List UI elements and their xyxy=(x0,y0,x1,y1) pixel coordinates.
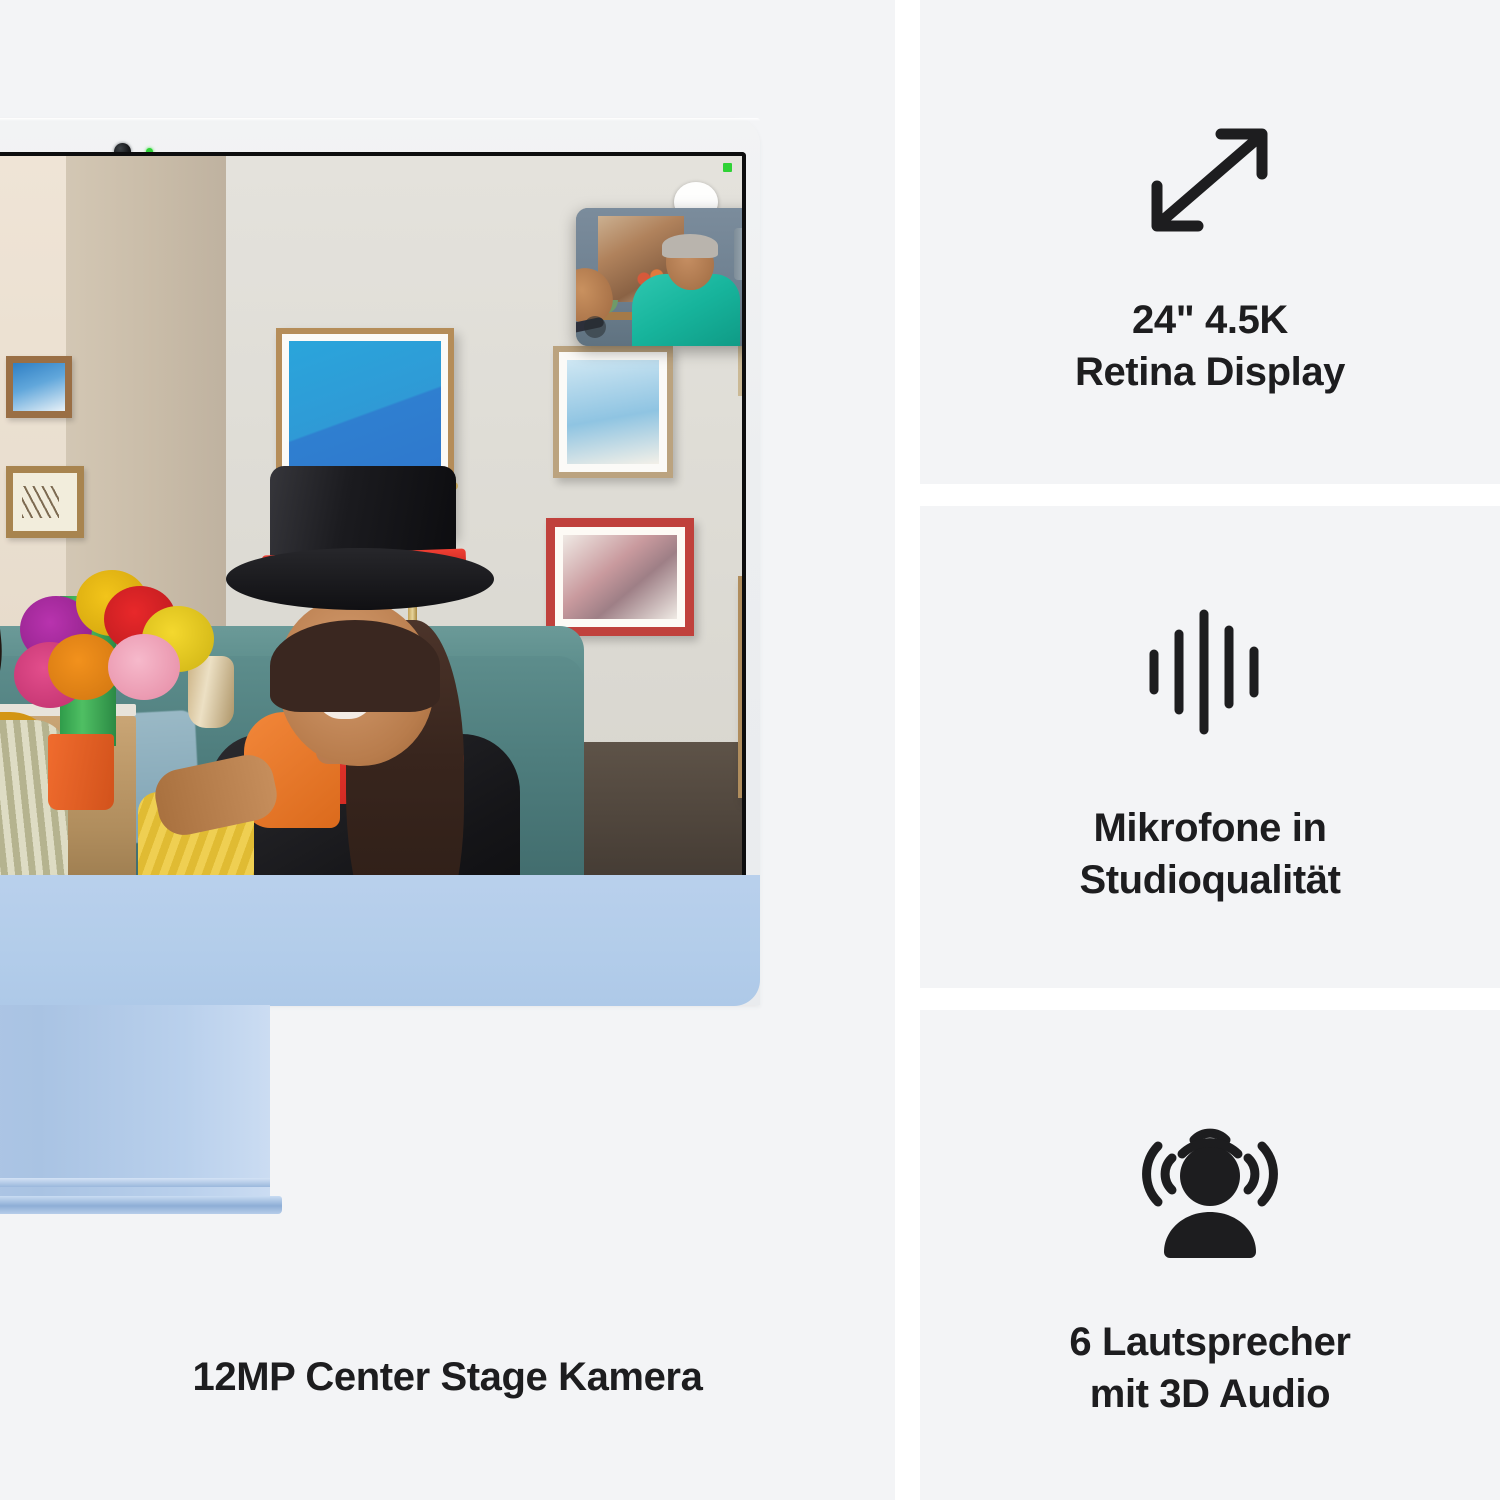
wall-frame-photo-white xyxy=(553,346,673,478)
facetime-call-view xyxy=(0,156,742,960)
feature-display: 24" 4.5K Retina Display xyxy=(920,112,1500,398)
feature-microphones: Mikrofone in Studioqualität xyxy=(920,604,1500,906)
pip-mute-button[interactable] xyxy=(584,316,606,338)
feature-display-title: 24" 4.5K Retina Display xyxy=(1075,294,1345,398)
product-feature-grid: 12MP Center Stage Kamera 24" 4.5K Retina… xyxy=(0,0,1500,1500)
imac-stand-foot xyxy=(0,1196,282,1214)
imac-stand xyxy=(0,1005,270,1201)
spatial-audio-person-icon xyxy=(1124,1104,1296,1274)
diagonal-resize-arrows-icon xyxy=(1135,112,1285,248)
recording-indicator-icon xyxy=(723,163,732,172)
panel-microphones: Mikrofone in Studioqualität xyxy=(920,506,1500,988)
feature-microphones-title: Mikrofone in Studioqualität xyxy=(1079,802,1340,906)
panel-camera: 12MP Center Stage Kamera xyxy=(0,0,895,1500)
imac-chin xyxy=(0,875,760,1006)
imac-screen xyxy=(0,152,746,964)
flower xyxy=(108,634,180,700)
camera-caption: 12MP Center Stage Kamera xyxy=(0,1352,895,1402)
audio-waveform-icon xyxy=(1146,604,1274,740)
picture-in-picture-window[interactable] xyxy=(576,208,742,346)
feature-speakers-title: 6 Lautsprecher mit 3D Audio xyxy=(1069,1316,1350,1420)
imac-body xyxy=(0,118,760,1005)
feature-speakers: 6 Lautsprecher mit 3D Audio xyxy=(920,1104,1500,1420)
panel-speakers: 6 Lautsprecher mit 3D Audio xyxy=(920,1010,1500,1500)
wall-frame-small-blue xyxy=(6,356,72,418)
panel-display: 24" 4.5K Retina Display xyxy=(920,0,1500,484)
wall-art-landscape xyxy=(738,576,742,798)
imac-device xyxy=(0,118,760,1213)
flower-pot xyxy=(48,734,114,810)
